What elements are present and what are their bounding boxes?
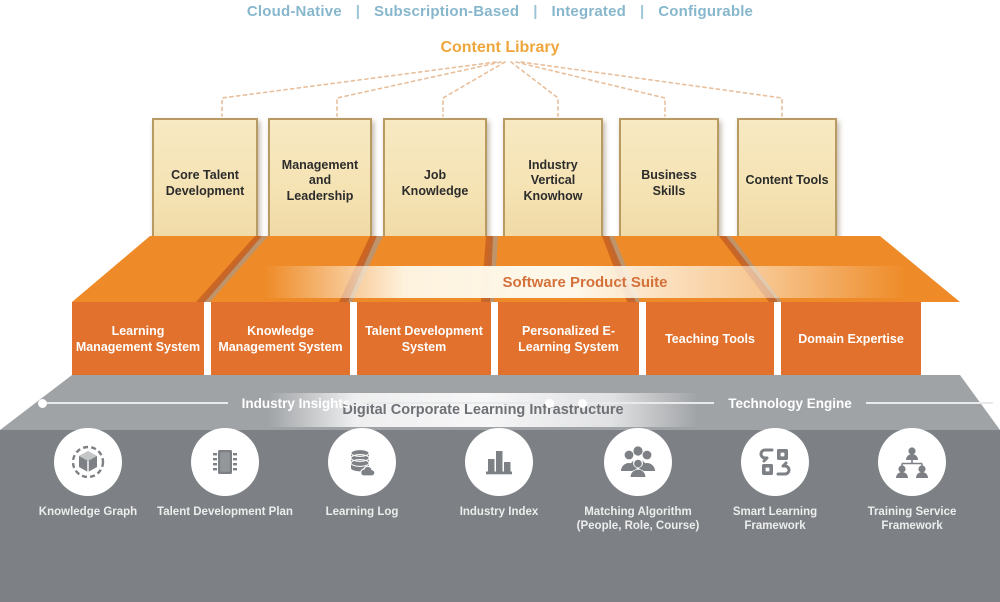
section-industry-insights: Industry Insights [38,393,554,413]
tagline-keyword-subscription-based: Subscription-Based [360,3,533,20]
capability-label: Smart Learning Framework [705,505,845,534]
section-rule-right [866,402,993,404]
capability-talent-development-plan[interactable]: Talent Development Plan [155,428,295,519]
block-talent-development-system[interactable]: Talent Development System [357,302,491,378]
capability-label: Training Service Framework [842,505,982,534]
section-dot-right-icon [993,399,1000,408]
block-label: Personalized E-Learning System [498,324,639,355]
content-library-title: Content Library [0,39,1000,57]
content-library-cards: Core Talent Development Management and L… [0,118,1000,250]
database-cloud-icon [328,428,396,496]
software-product-suite-slab: Software Product Suite Learning Manageme… [0,236,1000,388]
capability-label: Knowledge Graph [18,505,158,519]
software-product-suite-label: Software Product Suite [502,274,667,291]
card-label: Business Skills [621,168,717,199]
org-chart-people-icon [878,428,946,496]
block-domain-expertise[interactable]: Domain Expertise [781,302,921,378]
capability-knowledge-graph[interactable]: Knowledge Graph [18,428,158,519]
diagram-canvas: Cloud-Native | Subscription-Based | Inte… [0,0,1000,602]
block-personalized-e-learning-system[interactable]: Personalized E-Learning System [498,302,639,378]
people-group-icon [604,428,672,496]
capability-label: Industry Index [429,505,569,519]
block-knowledge-management-system[interactable]: Knowledge Management System [211,302,350,378]
capability-smart-learning-framework[interactable]: Smart Learning Framework [705,428,845,534]
card-label: Job Knowledge [385,168,485,199]
card-label: Core Talent Development [154,168,256,199]
block-learning-management-system[interactable]: Learning Management System [72,302,204,378]
section-dot-left-icon [38,399,47,408]
capability-label: Talent Development Plan [155,505,295,519]
section-rule-left [587,402,714,404]
infrastructure-base: Digital Corporate Learning Infrastructur… [0,375,1000,602]
knowledge-graph-icon [54,428,122,496]
tagline-keyword-configurable: Configurable [644,3,767,20]
section-label: Industry Insights [228,396,365,411]
card-industry-vertical-knowhow[interactable]: Industry Vertical Knowhow [503,118,603,244]
capability-icon-row: Knowledge Graph Talent De [0,428,1000,547]
card-job-knowledge[interactable]: Job Knowledge [383,118,487,250]
card-business-skills[interactable]: Business Skills [619,118,719,250]
capability-industry-index[interactable]: Industry Index [429,428,569,519]
capability-learning-log[interactable]: Learning Log [292,428,432,519]
section-dot-right-icon [545,399,554,408]
section-dot-left-icon [578,399,587,408]
block-label: Learning Management System [72,324,204,355]
software-product-suite-band: Software Product Suite [265,266,905,298]
suite-block-row: Learning Management System Knowledge Man… [0,302,1000,378]
card-label: Industry Vertical Knowhow [505,158,601,205]
tagline-keyword-cloud-native: Cloud-Native [233,3,356,20]
block-label: Talent Development System [357,324,491,355]
chip-icon [191,428,259,496]
card-management-and-leadership[interactable]: Management and Leadership [268,118,372,244]
section-technology-engine: Technology Engine [578,393,1000,413]
block-teaching-tools[interactable]: Teaching Tools [646,302,774,378]
capability-matching-algorithm[interactable]: Matching Algorithm (People, Role, Course… [568,428,708,534]
card-core-talent-development[interactable]: Core Talent Development [152,118,258,250]
section-rule-left [47,402,228,404]
capability-label: Matching Algorithm (People, Role, Course… [568,505,708,534]
block-label: Knowledge Management System [211,324,350,355]
card-label: Content Tools [741,173,832,189]
card-label: Management and Leadership [270,158,370,205]
section-label: Technology Engine [714,396,866,411]
tagline-keyword-integrated: Integrated [537,3,640,20]
card-content-tools[interactable]: Content Tools [737,118,837,244]
section-rule-right [364,402,545,404]
block-label: Teaching Tools [665,332,755,348]
capability-label: Learning Log [292,505,432,519]
block-label: Domain Expertise [798,332,904,348]
capability-training-service-framework[interactable]: Training Service Framework [842,428,982,534]
exchange-blocks-icon [741,428,809,496]
tagline-bar: Cloud-Native | Subscription-Based | Inte… [0,0,1000,22]
bar-chart-icon [465,428,533,496]
